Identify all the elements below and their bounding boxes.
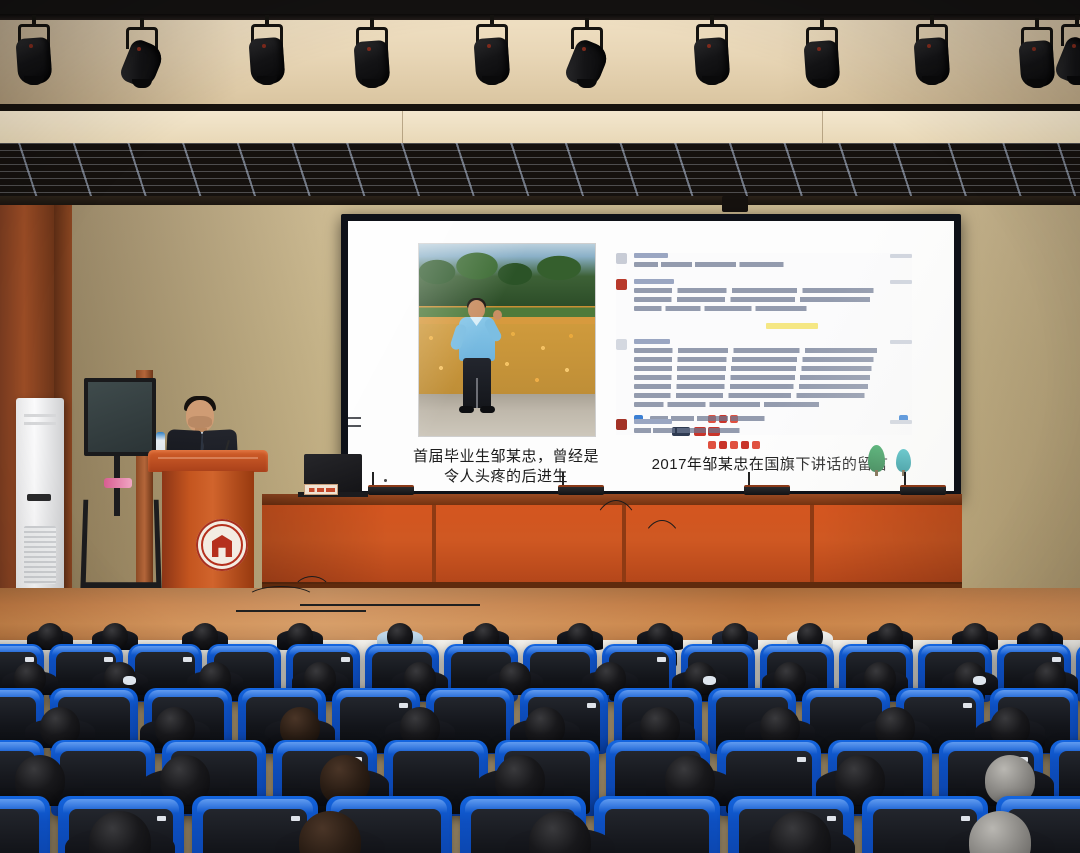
light-lens <box>812 79 832 88</box>
person-shoe-left <box>459 406 474 413</box>
seat-number-tag <box>963 703 972 708</box>
podium <box>148 450 268 610</box>
stage-light-icon <box>1055 24 1080 86</box>
light-indicator <box>137 47 141 51</box>
stage-light-icon <box>1015 27 1059 89</box>
chat-text-line <box>634 384 900 389</box>
chat-emoji-icon <box>708 441 716 449</box>
chat-text-line <box>634 297 902 302</box>
stage-light-icon <box>800 27 844 89</box>
face-mask-icon <box>973 676 986 684</box>
chat-avatar <box>616 419 627 430</box>
ac-vent-slot <box>24 422 56 425</box>
chat-text-highlight <box>766 323 818 329</box>
projection-screen[interactable]: 首届毕业生邹某忠，曾经是令人头疼的后进生 2017年邹某忠在国旗下讲话的留言 <box>341 214 961 499</box>
slide-dot-mark <box>384 479 387 482</box>
chat-sender-name <box>634 279 674 284</box>
monitor-icon <box>84 378 156 608</box>
chat-emoji-icon <box>730 441 738 449</box>
ceiling-soffit <box>0 111 1080 147</box>
table-cable <box>590 500 642 590</box>
light-indicator <box>29 44 33 48</box>
light-lens <box>1027 79 1047 88</box>
podium-top-engraving <box>158 457 258 459</box>
audience-head <box>529 811 591 853</box>
tree-crown <box>868 445 885 472</box>
audience-seating <box>0 600 1080 853</box>
light-indicator <box>707 44 711 48</box>
chat-text-line <box>634 306 830 311</box>
audience-head <box>299 811 361 853</box>
ac-grille <box>24 526 56 584</box>
air-conditioner-icon <box>16 398 64 610</box>
audience-seat[interactable] <box>0 796 50 853</box>
light-lens <box>482 76 502 85</box>
seat-number-tag <box>587 703 596 708</box>
seat-number-tag <box>797 757 806 762</box>
soffit-seam <box>402 111 403 147</box>
chat-text-line <box>634 288 906 293</box>
chat-sender-name <box>634 339 670 344</box>
audience-member <box>299 811 361 853</box>
stage-light-icon <box>12 24 56 86</box>
chat-sender-name <box>634 253 668 258</box>
chat-text-line <box>634 375 902 380</box>
light-lens <box>24 76 44 85</box>
light-indicator <box>487 44 491 48</box>
light-indicator <box>817 47 821 51</box>
stage-light-icon <box>120 27 164 89</box>
audience-member <box>529 811 591 853</box>
speaker-face-shadow <box>188 416 212 428</box>
school-emblem-icon <box>196 519 248 571</box>
ac-vent-slot <box>24 414 56 417</box>
audience-head <box>769 811 831 853</box>
chat-timestamp <box>890 340 912 344</box>
photo-background-trees <box>419 244 596 306</box>
audience-member <box>969 811 1031 853</box>
monitor-screen <box>84 378 156 456</box>
light-lens <box>257 76 277 85</box>
chat-text-line <box>634 428 754 433</box>
chat-sender-name <box>634 419 672 424</box>
seat-number-tag <box>657 657 666 662</box>
slide-dash-mark <box>348 425 361 427</box>
chat-text-line <box>634 393 896 398</box>
light-lens <box>577 79 597 88</box>
stage-light-icon <box>565 27 609 89</box>
tree-crown <box>896 449 911 472</box>
seat-back-cushion <box>0 809 39 853</box>
chat-avatar <box>616 339 627 350</box>
microphone-icon <box>558 485 604 495</box>
light-indicator <box>1072 44 1076 48</box>
light-indicator <box>262 44 266 48</box>
ceiling-projector-icon <box>722 196 748 212</box>
face-mask-icon <box>703 676 716 684</box>
seat-back-cushion <box>605 809 708 853</box>
audience-member <box>89 811 151 853</box>
slide-photo <box>418 243 596 437</box>
light-lens <box>702 76 722 85</box>
tree-trunk <box>875 470 878 476</box>
placard-text <box>309 488 335 492</box>
seat-number-tag <box>157 816 166 821</box>
stage-light-icon <box>470 24 514 86</box>
table-cable <box>640 520 684 590</box>
chat-timestamp <box>890 254 912 258</box>
name-placard <box>304 484 338 495</box>
chat-text-line <box>634 262 804 267</box>
light-lens <box>1067 76 1080 85</box>
light-lens <box>922 76 942 85</box>
stage-light-icon <box>245 24 289 86</box>
audience-member <box>769 811 831 853</box>
light-lens <box>132 79 152 88</box>
stage-light-icon <box>350 27 394 89</box>
microphone-icon <box>744 485 790 495</box>
chat-avatar <box>616 253 627 264</box>
chat-text-line <box>634 402 844 407</box>
chat-emoji-icon <box>719 441 727 449</box>
wechat-chat-screenshot <box>616 253 912 435</box>
light-lens <box>362 79 382 88</box>
photo-person <box>455 300 499 418</box>
microphone-icon <box>368 485 414 495</box>
auditorium-photo: 首届毕业生邹某忠，曾经是令人头疼的后进生 2017年邹某忠在国旗下讲话的留言 <box>0 0 1080 853</box>
audience-head <box>969 811 1031 853</box>
chat-text-line <box>634 366 904 371</box>
light-indicator <box>927 44 931 48</box>
light-indicator <box>367 47 371 51</box>
chat-timestamp <box>890 420 912 424</box>
seat-number-tag <box>341 657 350 662</box>
chat-text-line <box>634 348 910 353</box>
slide-dash-mark <box>348 417 361 419</box>
audience-head <box>89 811 151 853</box>
person-leg-split <box>476 378 478 408</box>
slide-caption-left: 首届毕业生邹某忠，曾经是令人头疼的后进生 <box>406 447 606 487</box>
pink-cloth <box>104 478 132 488</box>
water-bottle-icon <box>156 432 165 452</box>
chat-avatar <box>616 279 627 290</box>
person-hand <box>493 310 502 320</box>
slide-surface: 首届毕业生邹某忠，曾经是令人头疼的后进生 2017年邹某忠在国旗下讲话的留言 <box>348 221 954 491</box>
soffit-seam <box>822 111 823 147</box>
chat-timestamp <box>890 280 912 284</box>
microphone-icon <box>900 485 946 495</box>
photo-stone-path <box>419 394 596 436</box>
face-mask-icon <box>123 676 136 684</box>
light-indicator <box>1032 47 1036 51</box>
person-shoe-right <box>480 406 495 413</box>
light-indicator <box>582 47 586 51</box>
stage-light-icon <box>910 24 954 86</box>
chat-text-line <box>634 357 906 362</box>
chat-emoji-icon <box>741 441 749 449</box>
ac-control-panel[interactable] <box>27 494 51 501</box>
podium-top <box>148 450 268 472</box>
seat-number-tag <box>183 657 192 662</box>
chat-emoji-icon <box>752 441 760 449</box>
stage-light-icon <box>690 24 734 86</box>
